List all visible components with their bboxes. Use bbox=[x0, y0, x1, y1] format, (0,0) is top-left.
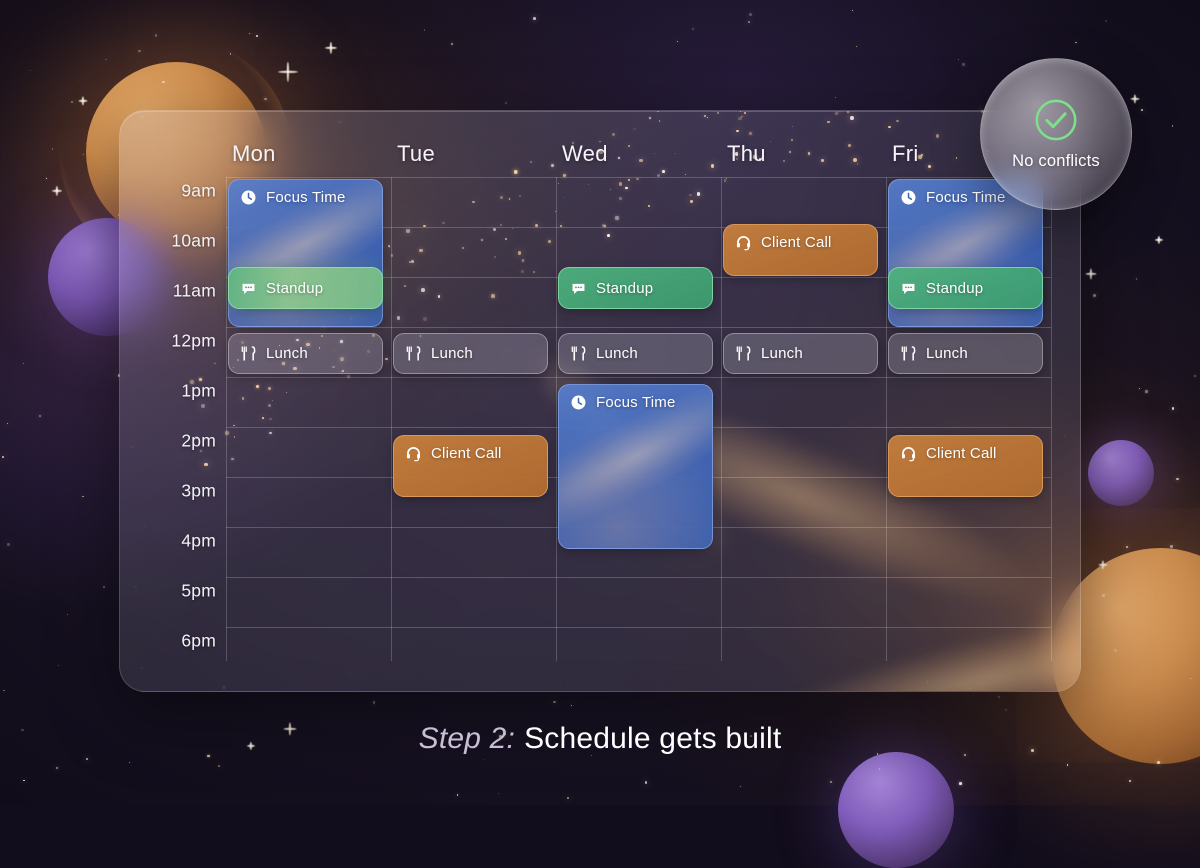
event-card-tue-call[interactable]: Client Call bbox=[393, 435, 548, 497]
panel-dust-particle bbox=[519, 195, 521, 197]
star-dot bbox=[749, 13, 752, 16]
star-dot bbox=[505, 102, 506, 103]
panel-dust-particle bbox=[548, 240, 551, 243]
panel-dust-particle bbox=[724, 179, 727, 182]
panel-dust-particle bbox=[848, 144, 851, 147]
panel-dust-particle bbox=[201, 404, 205, 408]
cutlery-icon bbox=[735, 345, 752, 362]
panel-dust-particle bbox=[726, 178, 727, 179]
star-dot bbox=[998, 696, 1000, 698]
star-dot bbox=[959, 782, 962, 785]
star-dot bbox=[373, 701, 376, 704]
star-dot bbox=[138, 50, 140, 52]
star-dot bbox=[1176, 478, 1179, 481]
day-header-thu: Thu bbox=[727, 141, 766, 167]
panel-dust-particle bbox=[588, 184, 589, 185]
star-dot bbox=[23, 780, 24, 781]
headset-icon bbox=[405, 445, 422, 462]
event-card-wed-standup[interactable]: Standup bbox=[558, 267, 713, 309]
panel-dust-particle bbox=[847, 111, 849, 113]
star-dot bbox=[1067, 764, 1069, 766]
grid-vline-3 bbox=[721, 177, 722, 661]
message-icon bbox=[240, 280, 257, 297]
panel-dust-particle bbox=[404, 285, 406, 287]
star-dot bbox=[83, 154, 84, 155]
time-label-3pm: 3pm bbox=[120, 481, 216, 502]
time-label-12pm: 12pm bbox=[120, 331, 216, 352]
panel-dust-particle bbox=[690, 200, 692, 202]
panel-dust-particle bbox=[827, 121, 829, 123]
panel-dust-particle bbox=[689, 194, 691, 196]
sparkle-star bbox=[1130, 94, 1139, 103]
star-dot bbox=[457, 794, 459, 796]
event-title: Lunch bbox=[431, 345, 473, 362]
planet-purple-right bbox=[1088, 440, 1154, 506]
star-dot bbox=[155, 34, 158, 37]
sparkle-star bbox=[278, 62, 298, 82]
panel-dust-particle bbox=[770, 141, 771, 142]
panel-dust-particle bbox=[738, 117, 741, 120]
star-dot bbox=[56, 189, 58, 191]
panel-dust-particle bbox=[505, 238, 507, 240]
star-dot bbox=[3, 690, 5, 692]
headset-icon bbox=[900, 445, 917, 462]
panel-dust-particle bbox=[234, 436, 235, 437]
panel-dust-particle bbox=[612, 133, 614, 135]
panel-dust-particle bbox=[918, 155, 922, 159]
event-card-mon-lunch[interactable]: Lunch bbox=[228, 333, 383, 374]
event-card-fri-standup[interactable]: Standup bbox=[888, 267, 1043, 309]
panel-dust-particle bbox=[533, 271, 535, 273]
star-dot bbox=[484, 759, 485, 760]
panel-dust-particle bbox=[421, 288, 425, 292]
panel-dust-particle bbox=[821, 159, 823, 161]
panel-dust-particle bbox=[500, 196, 503, 199]
star-dot bbox=[958, 59, 959, 60]
panel-dust-particle bbox=[442, 222, 444, 224]
panel-dust-particle bbox=[615, 216, 618, 219]
star-dot bbox=[1129, 780, 1131, 782]
day-header-fri: Fri bbox=[892, 141, 919, 167]
panel-dust-particle bbox=[857, 163, 858, 164]
panel-dust-particle bbox=[268, 387, 271, 390]
cutlery-icon bbox=[570, 345, 587, 362]
star-dot bbox=[7, 423, 8, 424]
clock-icon bbox=[240, 189, 257, 206]
panel-dust-particle bbox=[481, 239, 483, 241]
star-dot bbox=[23, 363, 24, 364]
panel-dust-particle bbox=[262, 417, 264, 419]
star-dot bbox=[86, 758, 88, 760]
star-dot bbox=[553, 701, 555, 703]
panel-dust-particle bbox=[462, 247, 464, 249]
star-dot bbox=[1139, 388, 1140, 389]
planet-purple-bottom bbox=[838, 752, 954, 868]
panel-dust-particle bbox=[619, 197, 622, 200]
time-label-10am: 10am bbox=[120, 231, 216, 252]
star-dot bbox=[835, 97, 836, 98]
time-label-2pm: 2pm bbox=[120, 431, 216, 452]
cutlery-icon bbox=[240, 345, 257, 362]
panel-dust-particle bbox=[509, 198, 511, 200]
caption: Step 2:Schedule gets built bbox=[0, 722, 1200, 756]
event-title: Client Call bbox=[926, 445, 997, 462]
event-card-fri-call[interactable]: Client Call bbox=[888, 435, 1043, 497]
no-conflicts-label: No conflicts bbox=[1012, 152, 1100, 171]
message-icon bbox=[570, 280, 587, 297]
event-title: Focus Time bbox=[926, 189, 1006, 206]
event-card-thu-lunch[interactable]: Lunch bbox=[723, 333, 878, 374]
event-title: Standup bbox=[926, 280, 983, 297]
star-dot bbox=[1145, 390, 1148, 393]
panel-dust-particle bbox=[707, 117, 709, 119]
grid-vline-1 bbox=[391, 177, 392, 661]
panel-dust-particle bbox=[214, 363, 215, 364]
panel-dust-particle bbox=[286, 392, 287, 393]
panel-dust-particle bbox=[522, 259, 525, 262]
grid-hline-12pm bbox=[226, 327, 1051, 328]
star-dot bbox=[52, 148, 53, 149]
panel-dust-particle bbox=[494, 256, 496, 258]
panel-dust-particle bbox=[636, 178, 638, 180]
panel-dust-particle bbox=[618, 157, 620, 159]
grid-vline-0 bbox=[226, 177, 227, 661]
panel-dust-particle bbox=[512, 228, 513, 229]
panel-dust-particle bbox=[269, 418, 271, 420]
grid-hline-1pm bbox=[226, 377, 1051, 378]
panel-dust-particle bbox=[685, 174, 686, 175]
panel-dust-particle bbox=[406, 229, 410, 233]
event-title: Focus Time bbox=[266, 189, 346, 206]
panel-dust-particle bbox=[385, 358, 388, 361]
panel-dust-particle bbox=[711, 164, 715, 168]
event-title: Client Call bbox=[431, 445, 502, 462]
panel-dust-particle bbox=[269, 432, 272, 435]
time-label-1pm: 1pm bbox=[120, 381, 216, 402]
panel-dust-particle bbox=[397, 316, 400, 319]
star-dot bbox=[162, 81, 164, 83]
panel-dust-particle bbox=[409, 261, 411, 263]
star-dot bbox=[451, 43, 454, 46]
caption-step-label: Step 2: bbox=[419, 722, 515, 755]
panel-dust-particle bbox=[610, 189, 611, 190]
time-label-5pm: 5pm bbox=[120, 581, 216, 602]
star-dot bbox=[1136, 278, 1137, 279]
day-header-mon: Mon bbox=[232, 141, 276, 167]
panel-dust-particle bbox=[936, 134, 940, 138]
star-dot bbox=[1005, 709, 1007, 711]
panel-dust-particle bbox=[659, 120, 661, 122]
panel-dust-particle bbox=[438, 295, 441, 298]
event-card-thu-call[interactable]: Client Call bbox=[723, 224, 878, 276]
cutlery-icon bbox=[900, 345, 917, 362]
panel-dust-particle bbox=[649, 117, 652, 120]
star-dot bbox=[962, 63, 965, 66]
star-dot bbox=[249, 33, 251, 35]
grid-vline-2 bbox=[556, 177, 557, 661]
star-dot bbox=[103, 586, 105, 588]
panel-dust-particle bbox=[850, 116, 854, 120]
panel-dust-particle bbox=[648, 205, 650, 207]
star-dot bbox=[830, 781, 832, 783]
star-dot bbox=[852, 10, 853, 11]
sparkle-star bbox=[325, 42, 337, 54]
star-dot bbox=[230, 53, 232, 55]
star-dot bbox=[1172, 125, 1173, 126]
panel-dust-particle bbox=[625, 187, 627, 189]
event-title: Focus Time bbox=[596, 394, 676, 411]
caption-text: Schedule gets built bbox=[524, 722, 781, 755]
panel-dust-particle bbox=[419, 249, 423, 253]
panel-dust-particle bbox=[704, 115, 706, 117]
event-title: Lunch bbox=[926, 345, 968, 362]
panel-dust-particle bbox=[928, 165, 931, 168]
star-dot bbox=[1141, 109, 1143, 111]
panel-dust-particle bbox=[558, 183, 559, 184]
star-dot bbox=[58, 665, 60, 667]
panel-dust-particle bbox=[853, 158, 857, 162]
panel-dust-particle bbox=[411, 260, 414, 263]
star-dot bbox=[256, 35, 258, 37]
star-dot bbox=[1114, 649, 1117, 652]
panel-dust-particle bbox=[423, 317, 427, 321]
event-card-mon-standup[interactable]: Standup bbox=[228, 267, 383, 309]
panel-dust-particle bbox=[619, 182, 622, 185]
star-dot bbox=[1093, 294, 1096, 297]
star-dot bbox=[218, 765, 219, 766]
star-dot bbox=[424, 29, 426, 31]
panel-dust-particle bbox=[472, 201, 474, 203]
star-dot bbox=[264, 98, 266, 100]
grid-hline-5pm bbox=[226, 577, 1051, 578]
sparkle-star bbox=[1155, 236, 1163, 244]
panel-dust-particle bbox=[740, 111, 741, 112]
cutlery-icon bbox=[405, 345, 422, 362]
event-title: Standup bbox=[596, 280, 653, 297]
panel-dust-particle bbox=[530, 161, 532, 163]
star-dot bbox=[1194, 375, 1196, 377]
event-card-tue-lunch[interactable]: Lunch bbox=[393, 333, 548, 374]
star-dot bbox=[677, 41, 679, 43]
sparkle-star bbox=[1085, 268, 1096, 279]
star-dot bbox=[1126, 546, 1128, 548]
star-dot bbox=[740, 786, 741, 787]
event-title: Standup bbox=[266, 280, 323, 297]
time-label-9am: 9am bbox=[120, 181, 216, 202]
panel-dust-particle bbox=[838, 110, 842, 111]
event-title: Lunch bbox=[596, 345, 638, 362]
star-dot bbox=[105, 59, 107, 61]
day-header-wed: Wed bbox=[562, 141, 608, 167]
panel-dust-particle bbox=[268, 404, 271, 407]
event-card-wed-focus[interactable]: Focus Time bbox=[558, 384, 713, 549]
event-title: Lunch bbox=[761, 345, 803, 362]
calendar-panel: MonTueWedThuFri 9am10am11am12pm1pm2pm3pm… bbox=[119, 110, 1081, 692]
panel-dust-particle bbox=[697, 192, 701, 196]
star-dot bbox=[56, 767, 58, 769]
star-dot bbox=[39, 415, 41, 417]
time-label-6pm: 6pm bbox=[120, 631, 216, 652]
star-dot bbox=[30, 70, 31, 71]
star-dot bbox=[129, 762, 130, 763]
panel-dust-particle bbox=[736, 130, 739, 133]
no-conflicts-badge: No conflicts bbox=[980, 58, 1132, 210]
star-dot bbox=[645, 781, 647, 783]
time-label-11am: 11am bbox=[120, 281, 216, 302]
day-header-tue: Tue bbox=[397, 141, 435, 167]
event-card-fri-lunch[interactable]: Lunch bbox=[888, 333, 1043, 374]
grid-vline-4 bbox=[886, 177, 887, 661]
star-dot bbox=[1170, 545, 1173, 548]
panel-dust-particle bbox=[835, 112, 838, 115]
grid-hline-6pm bbox=[226, 627, 1051, 628]
panel-dust-particle bbox=[717, 112, 719, 114]
headset-icon bbox=[735, 234, 752, 251]
star-dot bbox=[1105, 20, 1107, 22]
panel-dust-particle bbox=[789, 151, 791, 153]
panel-dust-particle bbox=[493, 228, 496, 231]
panel-dust-particle bbox=[654, 153, 655, 154]
star-dot bbox=[71, 101, 73, 103]
star-dot bbox=[1075, 42, 1076, 43]
panel-dust-particle bbox=[628, 179, 631, 182]
panel-dust-particle bbox=[956, 157, 957, 158]
panel-dust-particle bbox=[628, 145, 630, 147]
panel-dust-particle bbox=[231, 458, 233, 460]
panel-dust-particle bbox=[791, 139, 793, 141]
panel-dust-particle bbox=[551, 164, 554, 167]
star-dot bbox=[571, 705, 572, 706]
panel-dust-particle bbox=[744, 112, 746, 114]
panel-dust-particle bbox=[242, 397, 245, 400]
star-dot bbox=[1102, 594, 1105, 597]
star-dot bbox=[2, 456, 4, 458]
panel-dust-particle bbox=[563, 197, 565, 199]
panel-dust-particle bbox=[792, 126, 793, 127]
panel-dust-particle bbox=[518, 251, 521, 254]
panel-dust-particle bbox=[662, 170, 665, 173]
star-dot bbox=[46, 178, 47, 179]
sparkle-star bbox=[78, 96, 87, 105]
panel-dust-particle bbox=[783, 160, 785, 162]
star-dot bbox=[67, 614, 68, 615]
panel-dust-particle bbox=[500, 224, 502, 226]
calendar-panel-inner: MonTueWedThuFri 9am10am11am12pm1pm2pm3pm… bbox=[120, 111, 1080, 691]
panel-dust-particle bbox=[896, 120, 898, 122]
panel-dust-particle bbox=[272, 400, 273, 401]
panel-dust-particle bbox=[204, 463, 207, 466]
event-card-wed-lunch[interactable]: Lunch bbox=[558, 333, 713, 374]
star-dot bbox=[82, 496, 83, 497]
grid-hline-9am bbox=[226, 177, 1051, 178]
event-title: Client Call bbox=[761, 234, 832, 251]
panel-dust-particle bbox=[256, 385, 259, 388]
star-dot bbox=[59, 307, 60, 308]
panel-dust-particle bbox=[521, 270, 524, 273]
star-dot bbox=[1172, 407, 1175, 410]
star-dot bbox=[498, 793, 499, 794]
star-dot bbox=[110, 168, 111, 169]
time-label-4pm: 4pm bbox=[120, 531, 216, 552]
panel-dust-particle bbox=[749, 132, 752, 135]
clock-icon bbox=[900, 189, 917, 206]
panel-dust-particle bbox=[808, 152, 811, 155]
panel-dust-particle bbox=[607, 234, 610, 237]
grid-vline-5 bbox=[1051, 177, 1052, 661]
panel-dust-particle bbox=[888, 126, 891, 129]
panel-dust-particle bbox=[491, 294, 495, 298]
star-dot bbox=[7, 543, 10, 546]
event-title: Lunch bbox=[266, 345, 308, 362]
star-dot bbox=[856, 46, 857, 47]
check-circle-icon bbox=[1033, 97, 1079, 143]
star-dot bbox=[533, 17, 536, 20]
panel-dust-particle bbox=[741, 116, 742, 117]
star-dot bbox=[567, 797, 569, 799]
star-dot bbox=[1157, 761, 1160, 764]
clock-icon bbox=[570, 394, 587, 411]
star-dot bbox=[748, 21, 750, 23]
panel-dust-particle bbox=[675, 153, 676, 154]
star-dot bbox=[692, 28, 694, 30]
panel-dust-particle bbox=[639, 159, 642, 162]
panel-dust-particle bbox=[657, 111, 658, 112]
message-icon bbox=[900, 280, 917, 297]
